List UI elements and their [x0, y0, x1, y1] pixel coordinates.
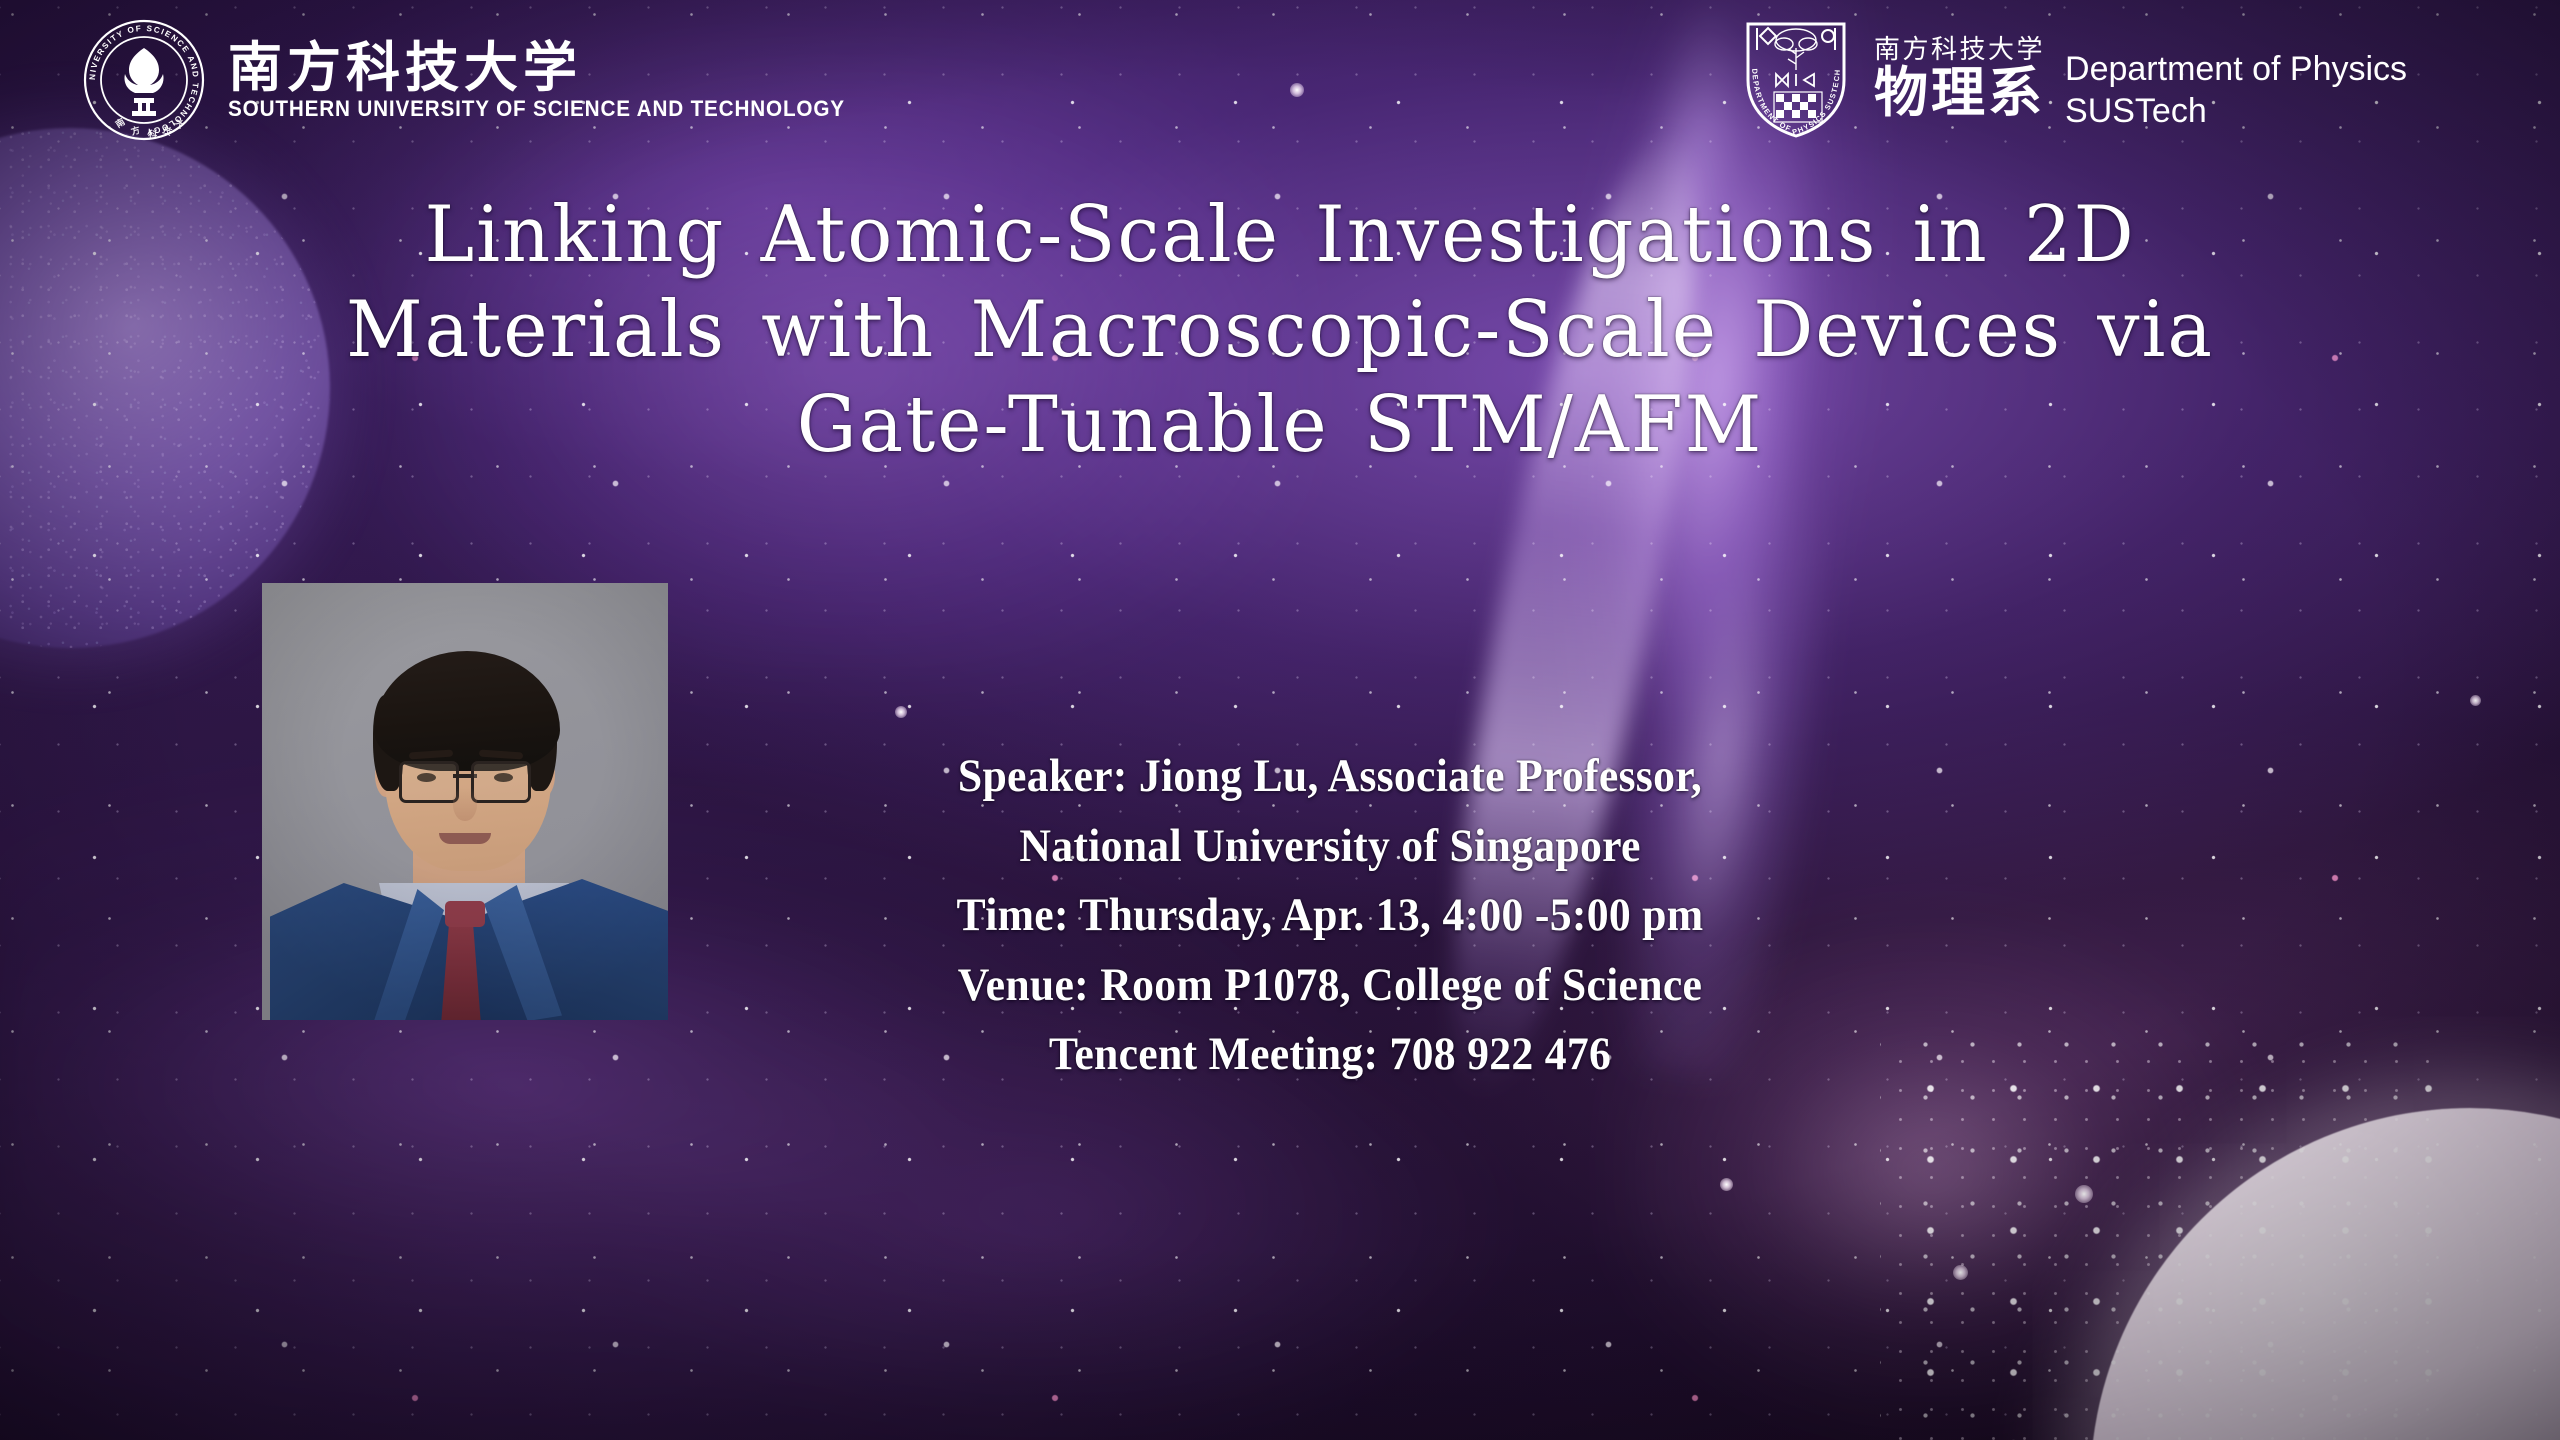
sustech-chinese-name: 南方科技大学: [228, 40, 899, 94]
title-line-3: Gate-Tunable STM/AFM: [166, 378, 2393, 473]
speaker-photo: [262, 583, 668, 1020]
seminar-poster: SOUTHERN UNIVERSITY OF SCIENCE AND TECHN…: [0, 0, 2560, 1440]
sustech-torch-seal-icon: SOUTHERN UNIVERSITY OF SCIENCE AND TECHN…: [82, 18, 206, 142]
detail-affiliation: National University of Singapore: [744, 812, 1916, 882]
physics-department-shield-icon: DEPARTMENT OF PHYSICS SUSTECH: [1738, 14, 1854, 142]
physics-english-department: Department of Physics: [2065, 48, 2407, 90]
svg-text:科: 科: [148, 128, 158, 141]
physics-department-logo: DEPARTMENT OF PHYSICS SUSTECH 南方科技大学 物理系…: [1738, 14, 2407, 142]
detail-meeting-id: Tencent Meeting: 708 922 476: [744, 1020, 1916, 1090]
sustech-english-name: SOUTHERN UNIVERSITY OF SCIENCE AND TECHN…: [228, 98, 845, 121]
seminar-title: Linking Atomic-Scale Investigations in 2…: [166, 188, 2393, 473]
detail-venue: Venue: Room P1078, College of Science: [744, 951, 1916, 1021]
sustech-wordmark: 南方科技大学 SOUTHERN UNIVERSITY OF SCIENCE AN…: [228, 40, 899, 121]
photo-vignette: [262, 583, 668, 1020]
detail-time: Time: Thursday, Apr. 13, 4:00 -5:00 pm: [744, 881, 1916, 951]
title-line-1: Linking Atomic-Scale Investigations in 2…: [166, 188, 2393, 283]
physics-english-wordmark: Department of Physics SUSTech: [2065, 48, 2407, 142]
title-line-2: Materials with Macroscopic-Scale Devices…: [166, 283, 2393, 378]
seminar-details: Speaker: Jiong Lu, Associate Professor, …: [744, 742, 1916, 1090]
physics-english-university: SUSTech: [2065, 90, 2407, 132]
physics-chinese-department: 物理系: [1874, 65, 2045, 120]
svg-text:方: 方: [130, 124, 142, 138]
sustech-logo: SOUTHERN UNIVERSITY OF SCIENCE AND TECHN…: [82, 18, 899, 142]
detail-speaker: Speaker: Jiong Lu, Associate Professor,: [744, 742, 1916, 812]
physics-chinese-wordmark: 南方科技大学 物理系: [1874, 36, 2045, 120]
